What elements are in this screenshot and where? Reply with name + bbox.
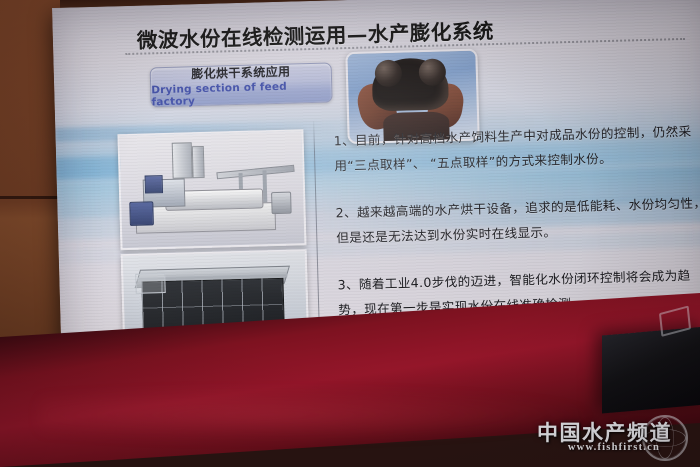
dryer-guard-rail — [135, 273, 166, 294]
machine-hopper — [172, 142, 193, 179]
subtitle-chinese: 膨化烘干系统应用 — [191, 63, 291, 83]
podium — [602, 326, 700, 413]
machine-conveyor-arm — [216, 165, 294, 180]
extruder-photo — [117, 129, 306, 250]
slide-body-text: 1、目前，针对高档水产饲料生产中对成品水份的控制，仍然采用“三点取样”、 “五点… — [333, 118, 700, 322]
machine-die-head — [271, 192, 292, 215]
wall-panel-seam — [0, 196, 62, 199]
stage-floor-sheen — [40, 389, 600, 441]
machine-motor — [145, 175, 163, 193]
subtitle-english: Drying section of feed factory — [151, 79, 332, 108]
slide-paragraph-2: 2、越来越高端的水产烘干设备，追求的是低能耗、水份均匀性，但是还是无法达到水份实… — [335, 190, 700, 250]
watermark-url: www.fishfirst.cn — [568, 442, 660, 453]
slide-paragraph-1: 1、目前，针对高档水产饲料生产中对成品水份的控制，仍然采用“三点取样”、 “五点… — [333, 118, 700, 178]
machine-hopper — [192, 146, 205, 178]
subtitle-plaque: 膨化烘干系统应用 Drying section of feed factory — [150, 62, 333, 107]
machine-motor — [129, 201, 154, 226]
presentation-photo-scene: 微波水份在线检测运用—水产膨化系统 膨化烘干系统应用 Drying sectio… — [0, 0, 700, 467]
